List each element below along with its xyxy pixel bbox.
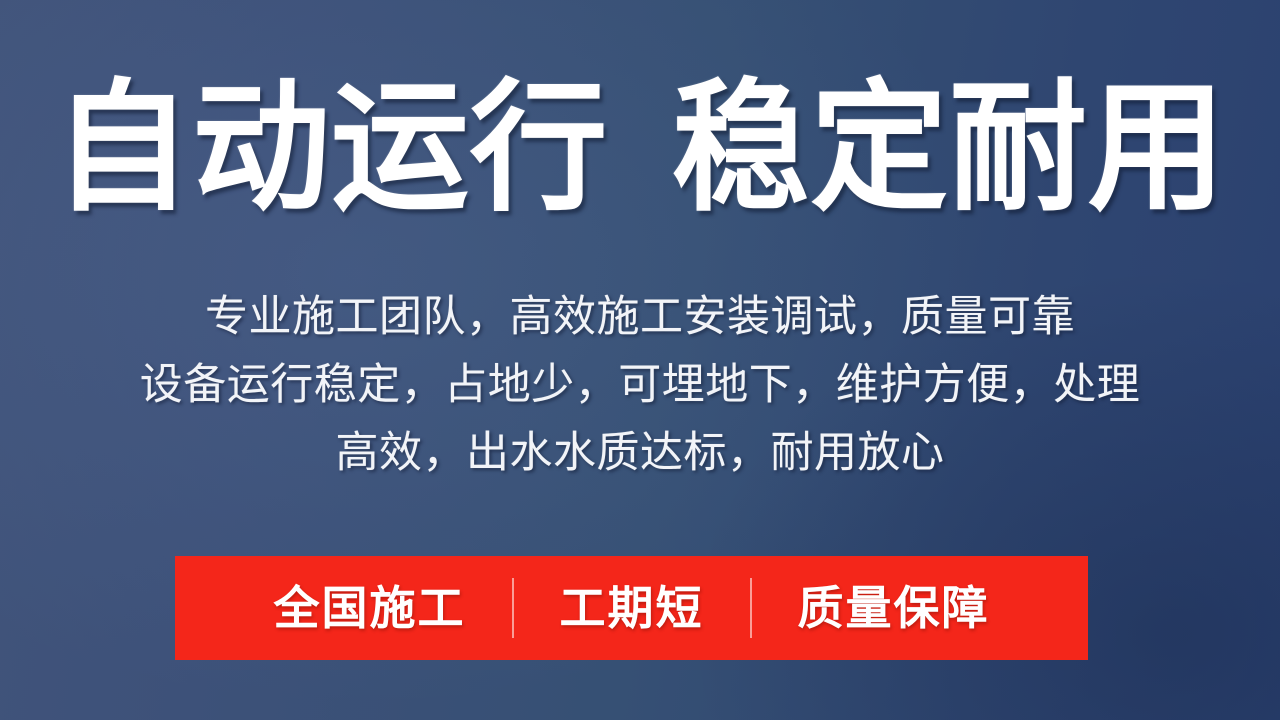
- feature-item-quality-guarantee: 质量保障: [752, 585, 1036, 631]
- subtitle-line-2: 设备运行稳定，占地少，可埋地下，维护方便，处理: [0, 351, 1280, 419]
- subtitle-line-3: 高效，出水水质达标，耐用放心: [0, 419, 1280, 487]
- promo-banner: 自动运行 稳定耐用 专业施工团队，高效施工安装调试，质量可靠 设备运行稳定，占地…: [0, 0, 1280, 720]
- feature-strip: 全国施工 工期短 质量保障: [175, 556, 1088, 660]
- headline: 自动运行 稳定耐用: [0, 78, 1280, 220]
- headline-part-2: 稳定耐用: [672, 78, 1227, 220]
- feature-item-nationwide-construction: 全国施工: [228, 585, 512, 631]
- subtitle-line-1: 专业施工团队，高效施工安装调试，质量可靠: [0, 283, 1280, 351]
- headline-part-1: 自动运行: [54, 78, 609, 220]
- feature-item-short-duration: 工期短: [514, 585, 750, 631]
- subtitle-block: 专业施工团队，高效施工安装调试，质量可靠 设备运行稳定，占地少，可埋地下，维护方…: [0, 283, 1280, 487]
